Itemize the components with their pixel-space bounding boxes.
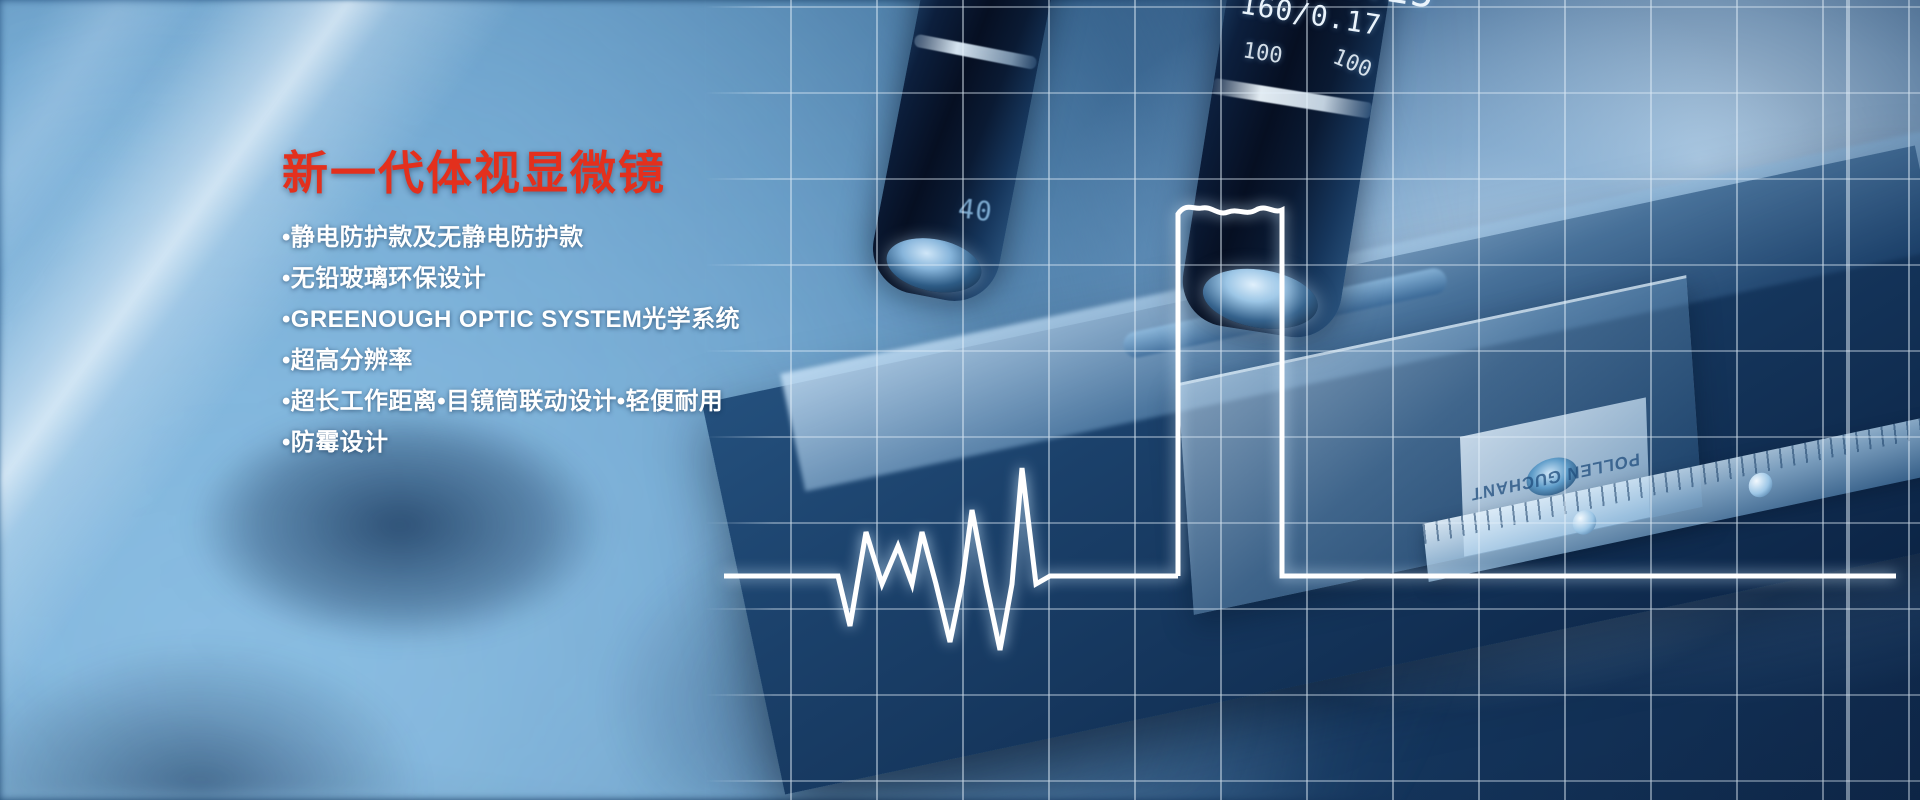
product-hero-banner: POLLEN GUCHANT 40 100/1.25 160/0.17 100 … xyxy=(0,0,1920,800)
feature-bullet-4: •超高分辨率 xyxy=(282,349,922,373)
feature-bullet-1: •静电防护款及无静电防护款 xyxy=(282,226,922,250)
feature-bullet-3: •GREENOUGH OPTIC SYSTEM光学系统 xyxy=(282,308,922,332)
page-title: 新一代体视显微镜 xyxy=(282,150,922,196)
hero-copy-block: 新一代体视显微镜 •静电防护款及无静电防护款 •无铅玻璃环保设计 •GREENO… xyxy=(282,150,922,472)
feature-bullet-6: •防霉设计 xyxy=(282,431,922,455)
ecg-pulse-trace xyxy=(724,468,1178,650)
square-pulse-block xyxy=(1178,207,1896,576)
feature-bullet-2: •无铅玻璃环保设计 xyxy=(282,267,922,291)
feature-bullet-5: •超长工作距离•目镜筒联动设计•轻便耐用 xyxy=(282,390,922,414)
